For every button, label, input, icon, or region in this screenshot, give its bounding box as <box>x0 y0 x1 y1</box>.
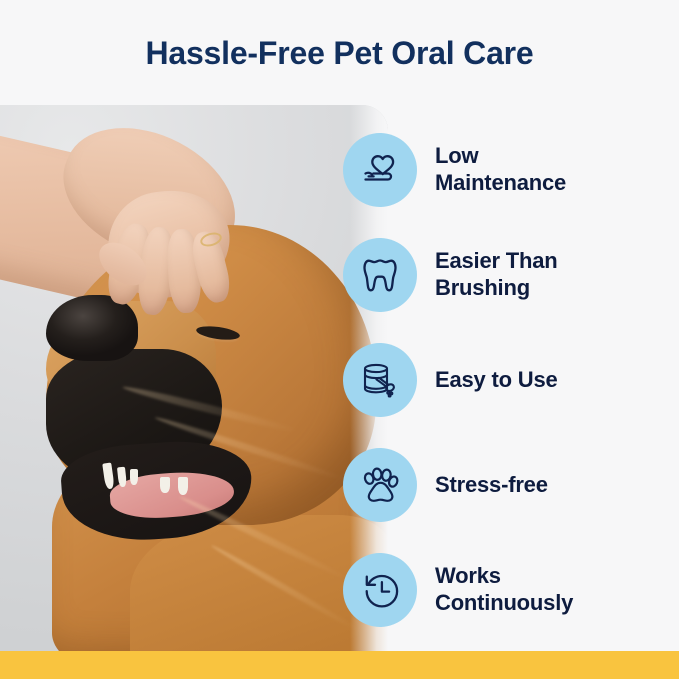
tooth-icon <box>343 238 417 312</box>
feature-label: Easy to Use <box>435 367 558 394</box>
feature-item-low-maintenance[interactable]: Low Maintenance <box>343 133 679 207</box>
promo-poster: Hassle-Free Pet Oral Care <box>0 0 679 679</box>
accent-bottom-bar <box>0 651 679 679</box>
dog-tooth <box>160 477 170 493</box>
dog-nose <box>46 295 138 361</box>
jar-with-scoop-icon <box>343 343 417 417</box>
feature-item-works-continuously[interactable]: Works Continuously <box>343 553 679 627</box>
paw-print-icon <box>343 448 417 522</box>
dog-tooth <box>130 469 138 485</box>
clock-refresh-icon <box>343 553 417 627</box>
feature-list: Low Maintenance Easier Than Brushing <box>343 133 679 627</box>
heart-in-hand-icon <box>343 133 417 207</box>
feature-label: Works Continuously <box>435 563 573 617</box>
feature-label: Stress-free <box>435 472 548 499</box>
feature-label: Low Maintenance <box>435 143 566 197</box>
page-title: Hassle-Free Pet Oral Care <box>0 36 679 71</box>
photo-backdrop <box>0 105 388 651</box>
feature-item-easy-to-use[interactable]: Easy to Use <box>343 343 679 417</box>
feature-item-stress-free[interactable]: Stress-free <box>343 448 679 522</box>
feature-label: Easier Than Brushing <box>435 248 558 302</box>
product-photo <box>0 105 388 651</box>
feature-item-easier-than-brushing[interactable]: Easier Than Brushing <box>343 238 679 312</box>
dog-tooth <box>178 477 188 495</box>
